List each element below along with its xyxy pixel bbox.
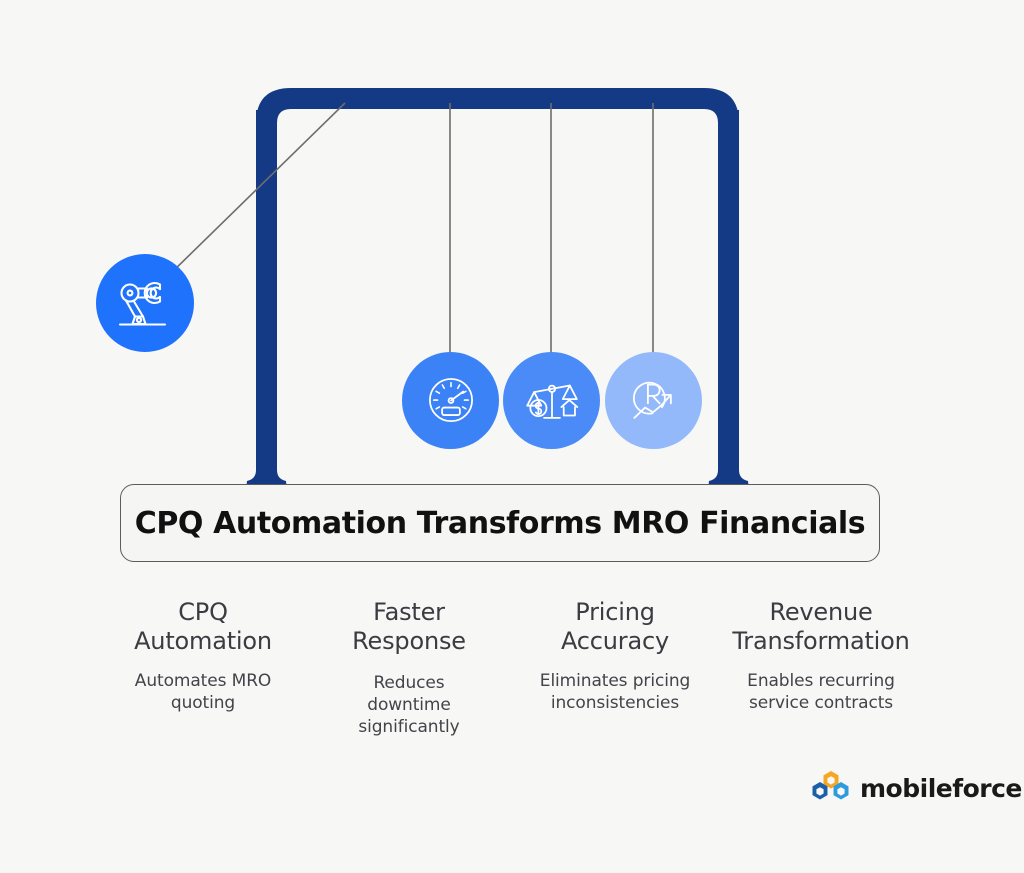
caption-desc-line: Automates MRO — [106, 670, 300, 692]
caption-description: Reduces downtime significantly — [312, 672, 506, 738]
speedometer-icon — [421, 371, 481, 431]
caption-title: CPQ Automation — [106, 598, 300, 656]
caption-title-line: Response — [312, 627, 506, 656]
title-banner: CPQ Automation Transforms MRO Financials — [120, 484, 880, 562]
caption-desc-line: Eliminates pricing — [518, 670, 712, 692]
caption-column-faster-response: Faster Response Reduces downtime signifi… — [306, 598, 512, 738]
logo-wordmark: mobileforce — [860, 774, 1022, 803]
caption-desc-line: service contracts — [724, 692, 918, 714]
revenue-growth-arrow-icon — [624, 371, 684, 431]
caption-column-revenue-transformation: Revenue Transformation Enables recurring… — [718, 598, 924, 738]
caption-title-line: Pricing — [518, 598, 712, 627]
balance-scale-dollar-house-icon — [522, 371, 582, 431]
string-robot — [167, 103, 345, 277]
caption-title: Pricing Accuracy — [518, 598, 712, 656]
robot-arm-icon — [113, 271, 177, 335]
caption-title-line: Automation — [106, 627, 300, 656]
caption-row: CPQ Automation Automates MRO quoting Fas… — [100, 598, 924, 738]
caption-title: Faster Response — [312, 598, 506, 656]
caption-title: Revenue Transformation — [724, 598, 918, 656]
pendulum-strings — [167, 103, 653, 360]
infographic-canvas: CPQ Automation Transforms MRO Financials… — [0, 0, 1024, 873]
caption-description: Eliminates pricing inconsistencies — [518, 670, 712, 714]
caption-desc-line: Enables recurring — [724, 670, 918, 692]
newtons-cradle-frame — [0, 0, 1024, 873]
hexagon-trio-icon — [810, 770, 852, 806]
caption-title-line: CPQ — [106, 598, 300, 627]
caption-title-line: Revenue — [724, 598, 918, 627]
caption-title-line: Transformation — [724, 627, 918, 656]
pendulum-ball-pricing-accuracy[interactable] — [503, 352, 600, 449]
caption-title-line: Accuracy — [518, 627, 712, 656]
caption-column-pricing-accuracy: Pricing Accuracy Eliminates pricing inco… — [512, 598, 718, 738]
pendulum-ball-faster-response[interactable] — [402, 352, 499, 449]
frame-top-bar — [256, 88, 739, 200]
caption-description: Automates MRO quoting — [106, 670, 300, 714]
pendulum-ball-cpq-automation[interactable] — [96, 254, 194, 352]
caption-desc-line: significantly — [312, 716, 506, 738]
caption-desc-line: inconsistencies — [518, 692, 712, 714]
caption-desc-line: Reduces — [312, 672, 506, 694]
caption-column-cpq-automation: CPQ Automation Automates MRO quoting — [100, 598, 306, 738]
brand-logo[interactable]: mobileforce — [810, 770, 1022, 806]
pendulum-ball-revenue-transformation[interactable] — [605, 352, 702, 449]
caption-desc-line: downtime — [312, 694, 506, 716]
caption-desc-line: quoting — [106, 692, 300, 714]
caption-title-line: Faster — [312, 598, 506, 627]
page-title: CPQ Automation Transforms MRO Financials — [135, 506, 866, 541]
caption-description: Enables recurring service contracts — [724, 670, 918, 714]
